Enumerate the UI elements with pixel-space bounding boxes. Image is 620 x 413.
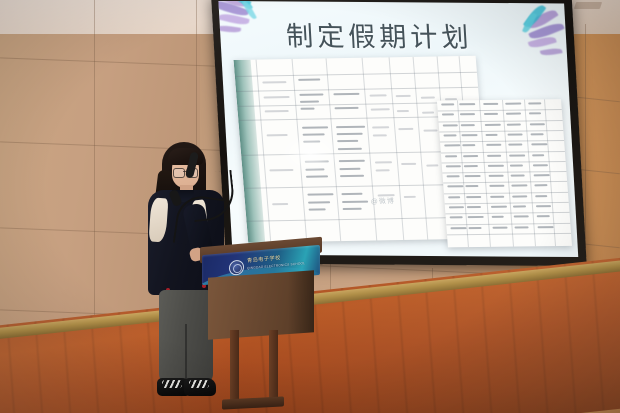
shoelaces-left <box>162 380 182 388</box>
slide-document-side <box>437 99 572 248</box>
photo-scene: 制定假期计划 <box>0 0 620 413</box>
screen-surface: 制定假期计划 <box>218 1 578 257</box>
slide-watermark: @微博 <box>370 196 395 206</box>
podium-base <box>222 396 284 409</box>
podium: 青岛电子学校 QINGDAO ELECTRONICS SCHOOL <box>196 238 324 413</box>
watercolor-feather-icon-left <box>218 1 291 58</box>
wall-seam-v-r1 <box>585 24 586 354</box>
slide-title: 制定假期计划 <box>285 14 474 54</box>
ceiling-vent-3 <box>574 2 602 9</box>
document-binding-edge <box>233 60 265 243</box>
wall-seam-v-3 <box>330 262 331 342</box>
watercolor-feather-icon-right <box>492 9 565 78</box>
wall-seam-v-4 <box>432 268 433 346</box>
podium-leg-right <box>269 330 278 402</box>
wall-seam-v-1 <box>94 0 95 350</box>
projection-screen: 制定假期计划 <box>211 0 587 266</box>
screen-bezel: 制定假期计划 <box>211 0 587 266</box>
glasses-lens-left <box>173 168 185 178</box>
podium-leg-left <box>230 330 239 402</box>
projector-glare <box>278 133 341 174</box>
podium-body <box>208 270 314 339</box>
